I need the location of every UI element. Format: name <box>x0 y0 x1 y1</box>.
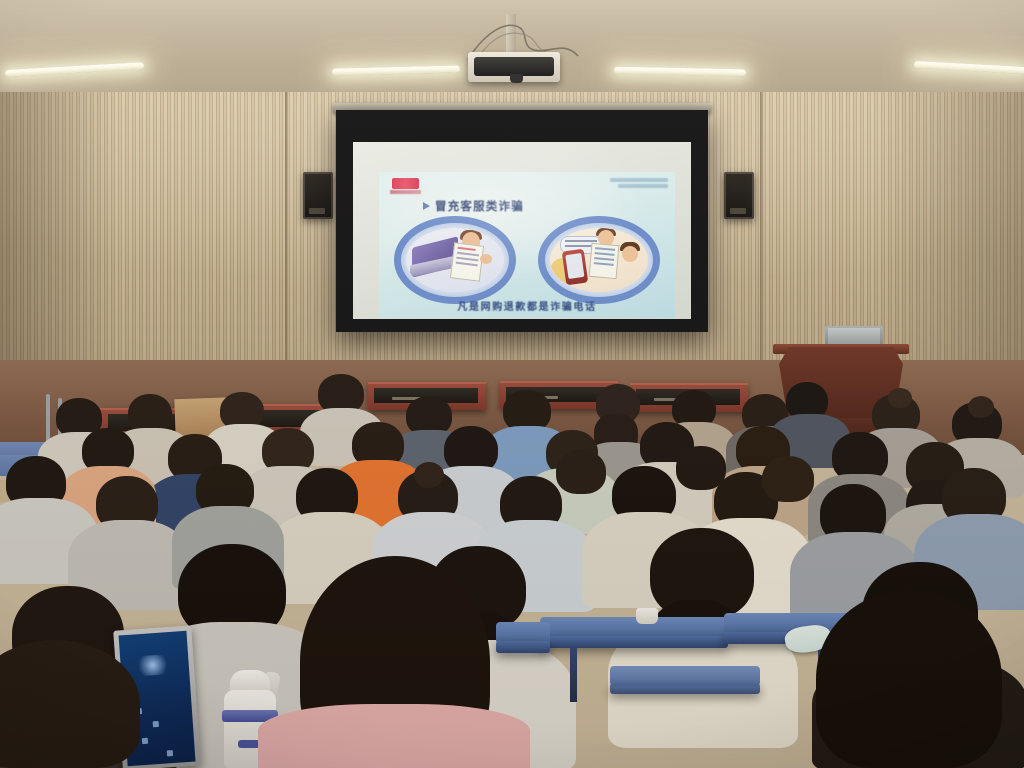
slide-corner-note <box>606 178 668 193</box>
audience-head <box>556 450 606 494</box>
triangle-bullet-icon <box>423 202 430 210</box>
laptop-screen-glyph-icon <box>134 654 171 676</box>
slide-illustrations <box>379 216 675 292</box>
lecture-hall-photo: 冒充客服类诈骗 <box>0 0 1024 768</box>
desk-leg <box>570 646 577 702</box>
oval-illustration-right <box>538 216 660 304</box>
audience-head <box>676 446 726 490</box>
anti-fraud-logo-icon <box>389 177 423 196</box>
podium-monitor-screen <box>828 328 880 344</box>
projector-lens-icon <box>510 74 523 83</box>
blue-student-desk-edge <box>610 683 760 694</box>
presentation-slide: 冒充客服类诈骗 <box>379 172 675 318</box>
audience-hair-bun <box>888 388 912 408</box>
paper-cup <box>636 608 658 624</box>
bottle-tag <box>238 740 260 748</box>
slide-title: 冒充客服类诈骗 <box>435 198 524 214</box>
ceiling-projector <box>468 52 560 82</box>
wall-speaker-left <box>303 172 333 219</box>
wall-speaker-right <box>724 172 754 219</box>
audience-head-foreground <box>816 590 1002 768</box>
oval-illustration-left <box>394 216 516 304</box>
audience-head <box>762 456 814 502</box>
speaker-grill-icon <box>309 208 325 214</box>
blue-student-desk-edge <box>496 641 550 653</box>
speaker-grill-icon <box>730 208 746 214</box>
projection-screen: 冒充客服类诈骗 <box>336 110 708 332</box>
audience-hair-bun <box>414 462 444 488</box>
blue-student-desk-edge <box>540 636 728 648</box>
slide-title-row: 冒充客服类诈骗 <box>423 198 524 214</box>
slide-caption: 凡是网购退款都是诈骗电话 <box>379 298 675 313</box>
audience-hair-bun <box>968 396 994 418</box>
audience-body-foreground <box>258 704 530 768</box>
